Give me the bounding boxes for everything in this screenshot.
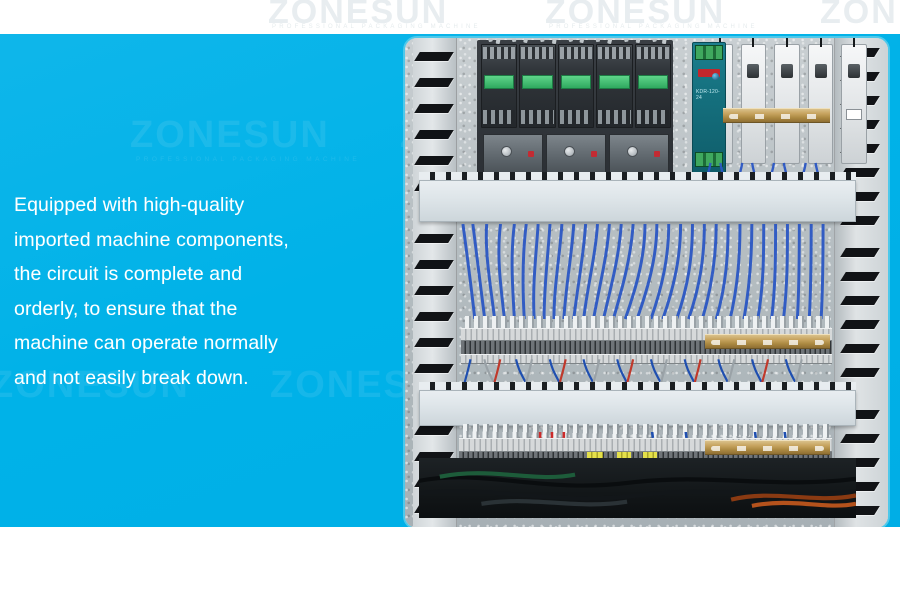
- watermark-brand: ZONESUN: [820, 0, 900, 32]
- caption-line: imported machine components,: [14, 223, 384, 258]
- cable-trough: [419, 458, 856, 518]
- control-cabinet-photo-frame: KDR-120-24: [403, 36, 890, 530]
- caption-line: orderly, to ensure that the: [14, 292, 384, 327]
- caption-line: machine can operate normally: [14, 326, 384, 361]
- feature-caption: Equipped with high-quality imported mach…: [14, 188, 384, 395]
- watermark-tagline: PROFESSIONAL PACKAGING MACHINE: [136, 156, 360, 163]
- control-cabinet-photo: KDR-120-24: [405, 38, 888, 528]
- watermark-tagline: PROFESSIONAL PACKAGING MACHINE: [272, 24, 481, 30]
- trough-cables: [419, 458, 856, 520]
- product-feature-banner: ZONESUN ZONESUN ZONESUN PROFESSIONAL PAC…: [0, 0, 900, 614]
- watermark-brand: ZONESUN: [130, 114, 330, 157]
- watermark-tagline: PROFESSIONAL PACKAGING MACHINE: [549, 24, 758, 30]
- caption-line: and not easily break down.: [14, 361, 384, 396]
- caption-line: the circuit is complete and: [14, 257, 384, 292]
- caption-line: Equipped with high-quality: [14, 188, 384, 223]
- wiring-duct-cover: [419, 390, 856, 426]
- din-rail: [705, 440, 830, 455]
- top-watermark-strip: ZONESUN ZONESUN ZONESUN PROFESSIONAL PAC…: [0, 0, 900, 34]
- bottom-white-strip: [0, 527, 900, 614]
